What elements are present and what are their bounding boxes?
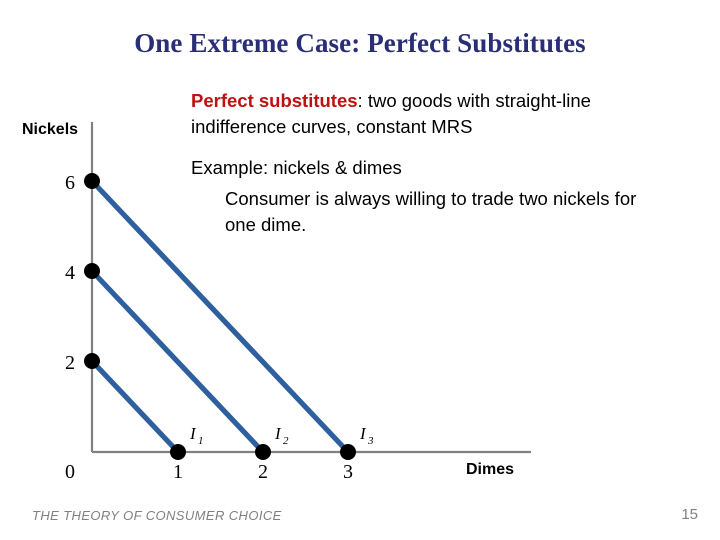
definition-term: Perfect substitutes (191, 90, 358, 111)
data-point-i1-y-intercept (84, 353, 100, 369)
example-detail-paragraph: Consumer is always willing to trade two … (191, 186, 661, 239)
x-tick-label-3: 3 (343, 461, 353, 483)
y-tick-label-0: 0 (65, 461, 75, 483)
slide-body-text: Perfect substitutes: two goods with stra… (191, 88, 661, 238)
data-point-i3-x-intercept (340, 444, 356, 460)
data-point-i3-y-intercept (84, 173, 100, 189)
curve-label-i2: I 2 (274, 424, 289, 447)
y-tick-label-6: 6 (65, 172, 75, 194)
curve-label-i1-text: I (189, 424, 197, 443)
data-point-i2-y-intercept (84, 263, 100, 279)
y-axis-title: Nickels (22, 121, 78, 138)
curve-label-i1-subscript: 1 (198, 435, 204, 447)
data-point-i1-x-intercept (170, 444, 186, 460)
curve-label-i3-subscript: 3 (367, 435, 374, 447)
curve-label-i2-subscript: 2 (283, 435, 289, 447)
definition-paragraph: Perfect substitutes: two goods with stra… (191, 88, 661, 141)
curve-label-i1: I 1 (189, 424, 204, 447)
y-tick-label-4: 4 (65, 262, 75, 284)
indifference-curve-i2 (92, 271, 263, 452)
footer-page-number: 15 (681, 506, 698, 523)
x-axis-title: Dimes (466, 461, 514, 478)
footer-chapter-title: THE THEORY OF CONSUMER CHOICE (32, 508, 282, 523)
y-tick-label-2: 2 (65, 352, 75, 374)
x-tick-label-1: 1 (173, 461, 183, 483)
x-tick-label-2: 2 (258, 461, 268, 483)
indifference-curve-chart: Nickels Dimes 6 4 2 0 1 2 3 I 1 I 2 (0, 0, 560, 500)
curve-label-i3: I 3 (359, 424, 374, 447)
curve-label-i2-text: I (274, 424, 282, 443)
example-paragraph: Example: nickels & dimes (191, 155, 661, 181)
data-point-i2-x-intercept (255, 444, 271, 460)
indifference-curve-i1 (92, 361, 178, 452)
curve-label-i3-text: I (359, 424, 367, 443)
